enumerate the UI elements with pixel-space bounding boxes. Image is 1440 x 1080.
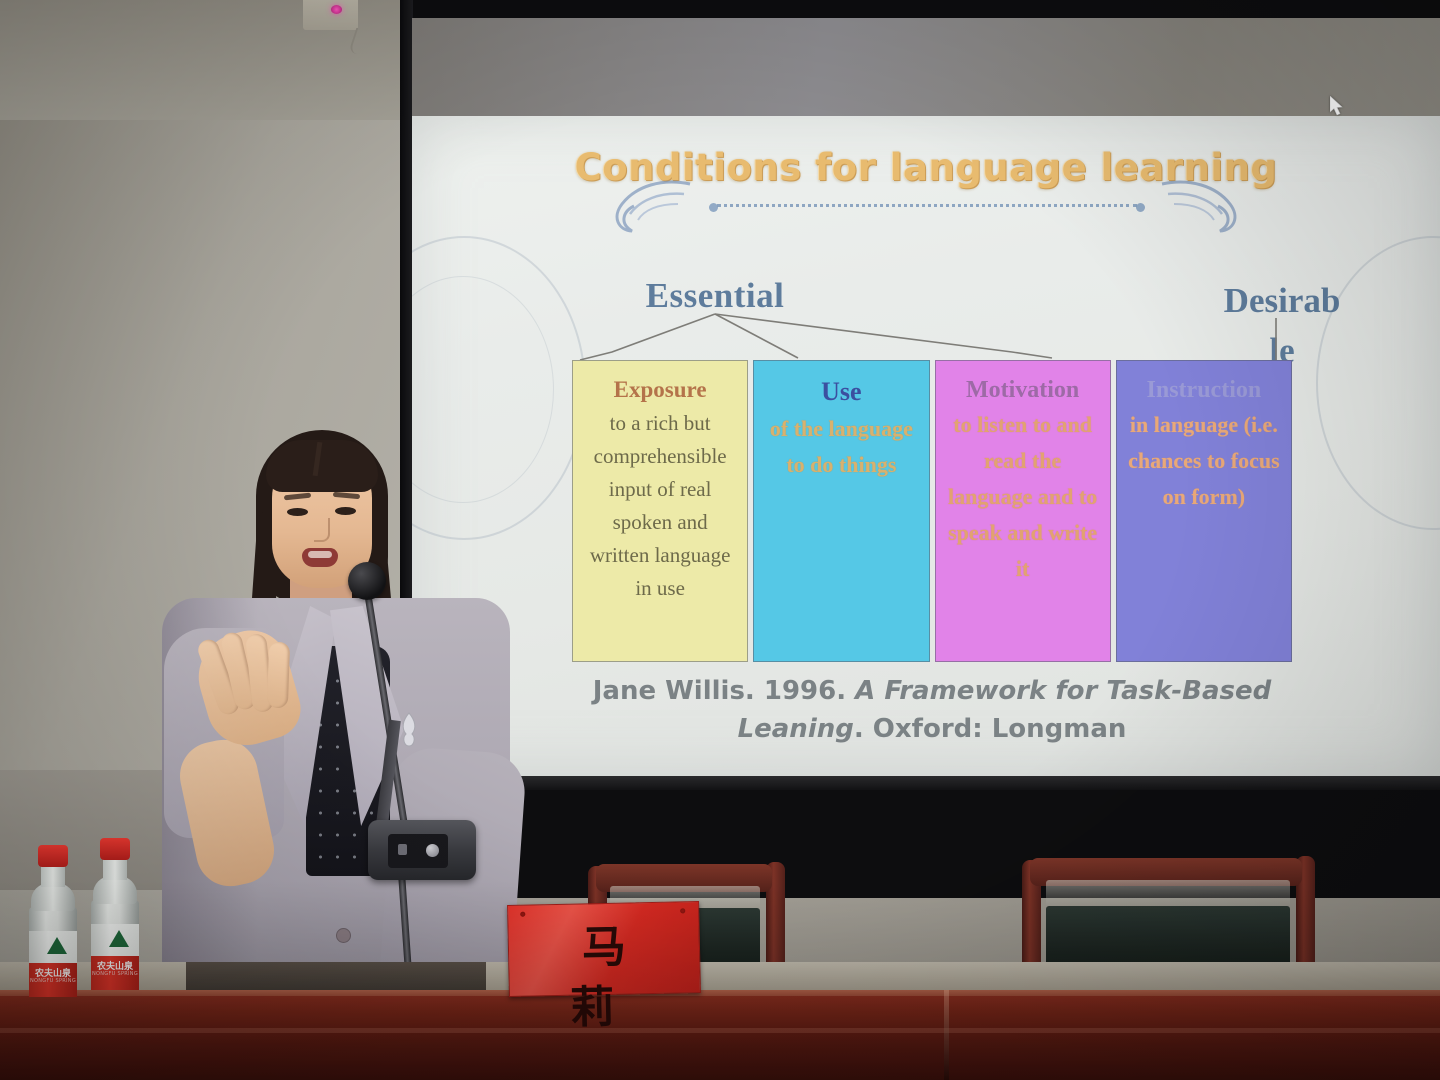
condition-box-use: Use of the language to do things bbox=[753, 360, 929, 662]
condition-body: of the language to do things bbox=[762, 411, 920, 483]
swirl-ornament-icon-right bbox=[1160, 174, 1250, 236]
brooch-icon bbox=[396, 712, 422, 748]
head-table bbox=[0, 996, 1440, 1080]
placard-holes bbox=[508, 908, 698, 912]
slide-title-divider bbox=[717, 204, 1137, 211]
bottle-cap-icon bbox=[100, 838, 130, 860]
citation-author-year: Jane Willis. 1996. bbox=[593, 676, 855, 706]
table-seam bbox=[944, 990, 949, 1080]
presenter-hair-front bbox=[266, 440, 378, 492]
condition-body: in language (i.e. chances to focus on fo… bbox=[1125, 407, 1283, 515]
presenter-teeth bbox=[308, 551, 332, 558]
placard-name-text: 马 莉 bbox=[508, 916, 700, 1040]
condition-box-motivation: Motivation to listen to and read the lan… bbox=[935, 360, 1111, 662]
condition-heading: Use bbox=[821, 375, 861, 409]
microphone-icon bbox=[348, 562, 386, 600]
presenter-nose bbox=[314, 518, 330, 542]
condition-heading: Motivation bbox=[966, 375, 1079, 405]
citation-publisher: . Oxford: Longman bbox=[854, 714, 1127, 744]
name-placard: 马 莉 bbox=[507, 901, 701, 997]
water-bottle-1: 农夫山泉 NONGFU SPRING bbox=[26, 845, 80, 997]
wall-fixture bbox=[303, 0, 358, 30]
bottle-brand-en: NONGFU SPRING bbox=[29, 978, 77, 984]
nongfu-logo-icon bbox=[47, 937, 67, 954]
projected-slide: Conditions for language learning Essenti… bbox=[412, 116, 1440, 776]
table-highlight bbox=[0, 1028, 1440, 1033]
swirl-ornament-icon bbox=[602, 174, 692, 236]
bottle-brand-en: NONGFU SPRING bbox=[91, 971, 139, 977]
presenter-eye-left bbox=[287, 508, 308, 516]
presenter-figure bbox=[150, 420, 520, 1020]
conditions-box-row: Exposure to a rich but comprehensible in… bbox=[572, 360, 1292, 662]
water-bottle-2: 农夫山泉 NONGFU SPRING bbox=[88, 838, 142, 990]
condition-body: to listen to and read the language and t… bbox=[944, 407, 1102, 587]
amplifier-panel bbox=[388, 834, 448, 868]
nongfu-logo-icon bbox=[109, 930, 129, 947]
presenter-eye-right bbox=[335, 507, 356, 515]
indicator-led-icon bbox=[331, 5, 342, 14]
presenter-fingers bbox=[206, 632, 294, 742]
slide-title: Conditions for language learning bbox=[412, 146, 1440, 189]
presenter-jacket-button bbox=[336, 928, 351, 943]
projection-screen-bottom-edge bbox=[400, 776, 1440, 790]
bottle-cap-icon bbox=[38, 845, 68, 867]
condition-box-instruction: Instruction in language (i.e. chances to… bbox=[1116, 360, 1292, 662]
slide-canvas: Conditions for language learning Essenti… bbox=[412, 116, 1440, 776]
amplifier-knob-icon bbox=[426, 844, 439, 857]
condition-heading: Exposure bbox=[614, 375, 707, 405]
condition-heading: Instruction bbox=[1147, 375, 1262, 405]
slide-citation: Jane Willis. 1996. A Framework for Task-… bbox=[532, 672, 1332, 748]
amplifier-switch-icon bbox=[398, 844, 407, 855]
projection-screen-dark-band bbox=[412, 18, 1440, 118]
condition-box-exposure: Exposure to a rich but comprehensible in… bbox=[572, 360, 748, 662]
condition-body: to a rich but comprehensible input of re… bbox=[581, 407, 739, 605]
screenshot-root: Conditions for language learning Essenti… bbox=[0, 0, 1440, 1080]
